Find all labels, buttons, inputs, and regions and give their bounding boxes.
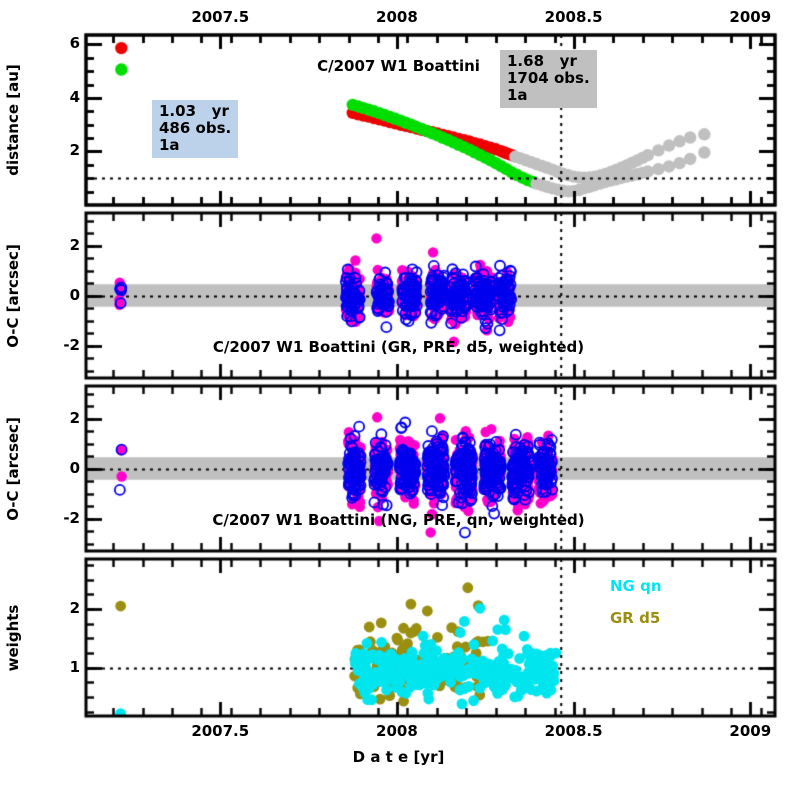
y-tick-label-oc-gr-2: 2 — [28, 236, 80, 254]
x-tick-label-bottom-2009: 2009 — [710, 722, 790, 740]
y-axis-title-distance: distance [au] — [4, 64, 22, 176]
x-axis-title: D a t e [yr] — [0, 748, 797, 766]
y-tick-label-distance-6: 6 — [28, 34, 80, 52]
panel-title-distance: C/2007 W1 Boattini — [0, 57, 797, 75]
figure-root: 2007.52007.5200820082008.52008.520092009… — [0, 0, 797, 797]
x-tick-label-top-2007.5: 2007.5 — [180, 8, 260, 26]
y-tick-label-weights-1: 1 — [28, 658, 80, 676]
legend-item-ng-qn: NG qn — [610, 577, 662, 595]
y-tick-label-weights-2: 2 — [28, 599, 80, 617]
x-tick-label-bottom-2008: 2008 — [357, 722, 437, 740]
x-tick-label-top-2008: 2008 — [357, 8, 437, 26]
y-axis-title-oc-gr: O-C [arcsec] — [4, 244, 22, 348]
panel-title-oc-ng: C/2007 W1 Boattini (NG, PRE, qn, weighte… — [0, 511, 797, 529]
x-tick-label-top-2008.5: 2008.5 — [534, 8, 614, 26]
legend-item-gr-d5: GR d5 — [610, 609, 660, 627]
y-axis-title-weights: weights — [4, 604, 22, 671]
x-tick-label-top-2009: 2009 — [710, 8, 790, 26]
y-tick-label-oc-ng-2: 2 — [28, 409, 80, 427]
y-tick-label-oc-ng-0: 0 — [28, 459, 80, 477]
x-tick-label-bottom-2008.5: 2008.5 — [534, 722, 614, 740]
pre-perihelion-arc-box: 1.03 yr 486 obs. 1a — [152, 100, 238, 158]
x-tick-label-bottom-2007.5: 2007.5 — [180, 722, 260, 740]
y-tick-label-distance-2: 2 — [28, 141, 80, 159]
full-arc-box: 1.68 yr 1704 obs. 1a — [500, 50, 597, 108]
y-tick-label-oc-gr-0: 0 — [28, 286, 80, 304]
chart-canvas — [0, 0, 797, 797]
panel-title-oc-gr: C/2007 W1 Boattini (GR, PRE, d5, weighte… — [0, 338, 797, 356]
y-tick-label-distance-4: 4 — [28, 88, 80, 106]
y-axis-title-oc-ng: O-C [arcsec] — [4, 417, 22, 521]
